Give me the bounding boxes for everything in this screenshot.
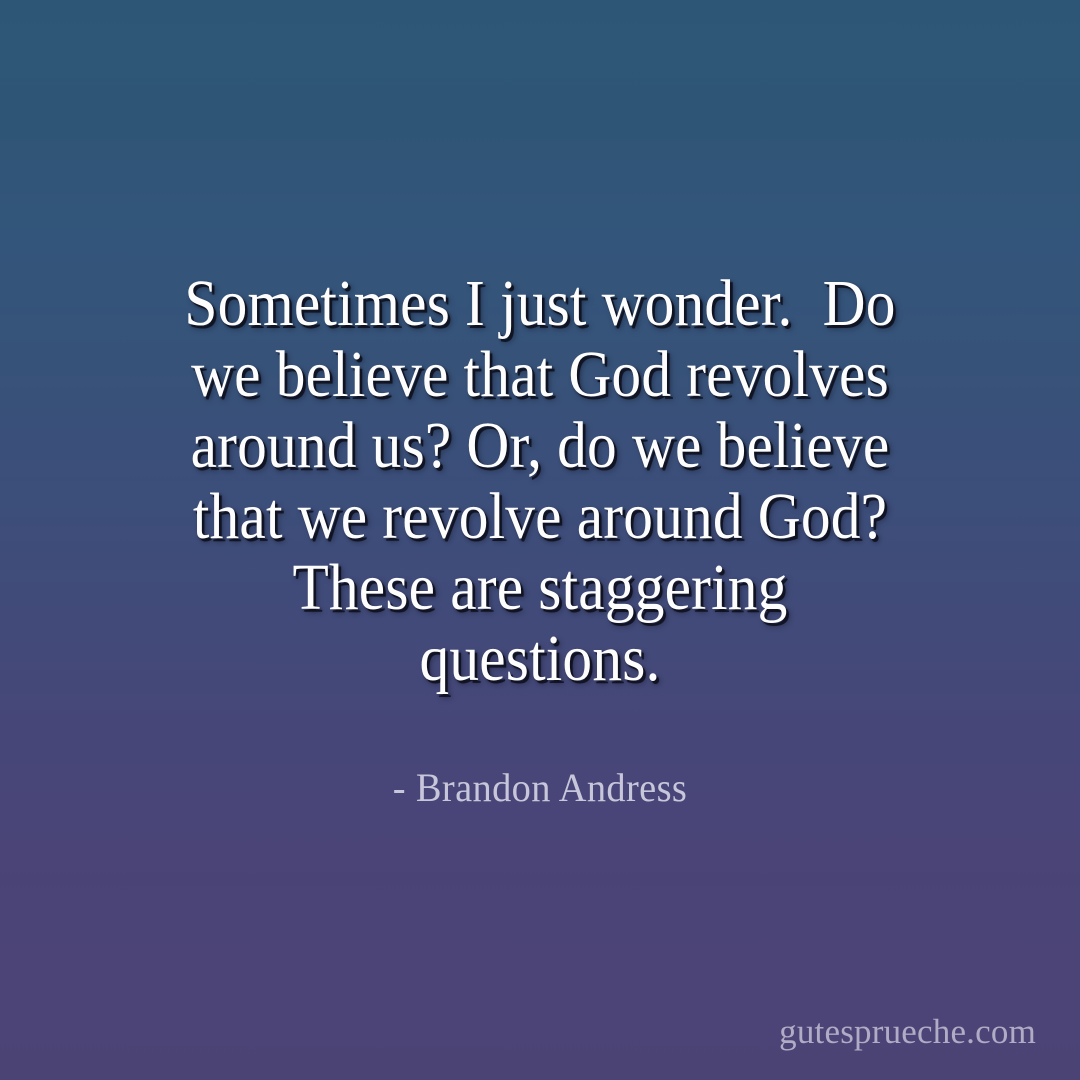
- quote-line: we believe that God revolves: [140, 339, 939, 410]
- quote-attribution: - Brandon Andress: [22, 764, 1059, 812]
- quote-card: Sometimes I just wonder. Do we believe t…: [0, 0, 1080, 1080]
- site-watermark: gutesprueche.com: [779, 1012, 1036, 1052]
- quote-line: Sometimes I just wonder. Do: [140, 268, 939, 339]
- quote-line: These are staggering: [140, 552, 939, 623]
- quote-text: Sometimes I just wonder. Do we believe t…: [0, 268, 1080, 694]
- quote-line: that we revolve around God?: [140, 481, 939, 552]
- quote-line: around us? Or, do we believe: [140, 410, 939, 481]
- quote-line: questions.: [140, 623, 939, 694]
